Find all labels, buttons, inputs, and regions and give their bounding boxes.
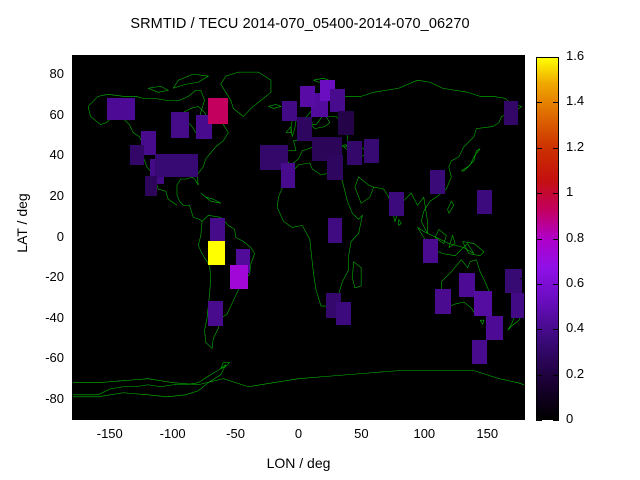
x-axis-tick — [236, 415, 237, 420]
colorbar-tick — [536, 239, 542, 240]
y-axis-tick — [72, 238, 77, 239]
heatmap-cell — [130, 145, 144, 165]
x-axis-tick-label: -50 — [206, 426, 266, 441]
y-axis-tick — [520, 400, 525, 401]
x-axis-tick — [173, 55, 174, 60]
coastline-path — [399, 219, 402, 225]
heatmap-cell — [171, 112, 189, 138]
colorbar-tick-label: 1.2 — [566, 139, 612, 154]
heatmap-cell — [364, 139, 379, 163]
colorbar-tick — [536, 375, 542, 376]
x-axis-tick-label: 50 — [331, 426, 391, 441]
x-axis-tick-label: -150 — [80, 426, 140, 441]
x-axis-tick-label: 150 — [457, 426, 517, 441]
colorbar-tick — [536, 193, 542, 194]
x-axis-tick — [487, 415, 488, 420]
heatmap-cell — [145, 176, 158, 196]
y-axis-tick — [520, 156, 525, 157]
heatmap-cell — [155, 154, 198, 176]
heatmap-cell — [486, 316, 502, 340]
x-axis-tick — [236, 55, 237, 60]
coastline-overlay — [73, 56, 524, 419]
heatmap-cell — [208, 98, 228, 124]
heatmap-cell — [504, 101, 518, 125]
x-axis-tick — [173, 415, 174, 420]
map-heatmap-panel[interactable] — [72, 55, 525, 420]
page-title: SRMTID / TECU 2014-070_05400-2014-070_06… — [0, 16, 600, 32]
colorbar-tick — [536, 102, 542, 103]
y-axis-tick-label: -60 — [20, 350, 64, 365]
y-axis-tick — [72, 400, 77, 401]
y-axis-tick — [72, 156, 77, 157]
y-axis-tick — [520, 238, 525, 239]
heatmap-cell — [327, 155, 343, 179]
colorbar-tick — [553, 375, 559, 376]
colorbar-tick — [536, 284, 542, 285]
colorbar-tick-label: 1 — [566, 184, 612, 199]
colorbar-tick — [553, 102, 559, 103]
heatmap-cell — [474, 291, 492, 315]
colorbar-tick — [553, 57, 559, 58]
heatmap-cell — [347, 141, 362, 165]
x-axis-tick-label: 100 — [394, 426, 454, 441]
heatmap-cell — [435, 289, 451, 313]
x-axis-tick — [361, 55, 362, 60]
heatmap-cell — [281, 163, 295, 187]
x-axis-tick — [424, 415, 425, 420]
heatmap-cell — [389, 192, 404, 216]
colorbar-tick — [553, 420, 559, 421]
x-axis-tick-label: 0 — [269, 426, 329, 441]
colorbar-tick — [536, 148, 542, 149]
coastline-path — [291, 121, 296, 137]
coastline-path — [221, 72, 271, 116]
colorbar-tick — [536, 420, 542, 421]
y-axis-tick-label: 0 — [20, 229, 64, 244]
y-axis-tick-label: -80 — [20, 391, 64, 406]
heatmap-cell — [477, 190, 492, 214]
y-axis-tick — [520, 116, 525, 117]
coastline-path — [352, 262, 361, 288]
y-axis-tick — [520, 75, 525, 76]
coastline-path — [448, 201, 454, 213]
y-axis-tick-label: 40 — [20, 147, 64, 162]
y-axis-tick-label: 60 — [20, 107, 64, 122]
x-axis-tick — [487, 55, 488, 60]
coastline-path — [480, 320, 484, 324]
y-axis-tick-label: 20 — [20, 188, 64, 203]
heatmap-cell — [511, 293, 525, 317]
y-axis-tick — [520, 359, 525, 360]
y-axis-tick — [72, 116, 77, 117]
colorbar-tick — [553, 239, 559, 240]
coastline-path — [148, 86, 168, 92]
coastline-path — [73, 365, 226, 397]
y-axis-tick — [72, 359, 77, 360]
y-axis-tick — [520, 319, 525, 320]
coastline-path — [461, 149, 480, 171]
y-axis-tick — [72, 319, 77, 320]
x-axis-tick — [424, 55, 425, 60]
heatmap-cell — [430, 170, 445, 194]
colorbar-tick-label: 0.6 — [566, 275, 612, 290]
plot-window: SRMTID / TECU 2014-070_05400-2014-070_06… — [0, 0, 640, 480]
colorbar-tick — [536, 329, 542, 330]
y-axis-tick-label: -20 — [20, 269, 64, 284]
heatmap-cell — [300, 86, 315, 106]
heatmap-cell — [330, 89, 345, 111]
heatmap-cell — [459, 273, 475, 297]
heatmap-cell — [336, 302, 351, 324]
heatmap-cell — [107, 98, 135, 120]
x-axis-tick — [110, 55, 111, 60]
heatmap-cell — [472, 340, 487, 364]
x-axis-title: LON / deg — [72, 455, 525, 471]
y-axis-tick-label: 80 — [20, 66, 64, 81]
y-axis-tick — [72, 197, 77, 198]
colorbar-tick — [553, 193, 559, 194]
x-axis-tick — [299, 415, 300, 420]
coastline-path — [286, 127, 291, 133]
y-axis-tick — [520, 197, 525, 198]
heatmap-cell — [210, 218, 225, 242]
heatmap-cell — [282, 101, 297, 121]
heatmap-cell — [208, 301, 223, 325]
coastline-path — [201, 193, 221, 203]
y-axis-tick — [520, 278, 525, 279]
colorbar-tick-label: 0.4 — [566, 320, 612, 335]
colorbar-tick-label: 1.6 — [566, 48, 612, 63]
heatmap-cell — [328, 218, 342, 242]
colorbar-tick-label: 1.4 — [566, 93, 612, 108]
coastline-path — [311, 117, 330, 129]
x-axis-tick — [361, 415, 362, 420]
x-axis-tick — [299, 55, 300, 60]
heatmap-cell — [297, 117, 312, 141]
coastline-path — [268, 104, 281, 108]
colorbar-tick-label: 0.8 — [566, 230, 612, 245]
colorbar-tick — [536, 57, 542, 58]
colorbar-tick — [553, 148, 559, 149]
heatmap-cell — [230, 265, 248, 289]
y-axis-tick-label: -40 — [20, 310, 64, 325]
coastline-path — [449, 235, 455, 247]
y-axis-tick — [72, 278, 77, 279]
heatmap-cell — [505, 269, 523, 293]
colorbar-tick-label: 0.2 — [566, 366, 612, 381]
x-axis-tick-label: -100 — [143, 426, 203, 441]
colorbar-tick-label: 0 — [566, 411, 612, 426]
heatmap-cell — [338, 111, 354, 135]
coastline-path — [73, 371, 524, 387]
coastline-path — [173, 74, 208, 88]
x-axis-tick — [110, 415, 111, 420]
heatmap-cell — [208, 241, 226, 265]
colorbar-tick — [553, 284, 559, 285]
heatmap-cell — [423, 239, 438, 263]
y-axis-tick — [72, 75, 77, 76]
colorbar-tick — [553, 329, 559, 330]
